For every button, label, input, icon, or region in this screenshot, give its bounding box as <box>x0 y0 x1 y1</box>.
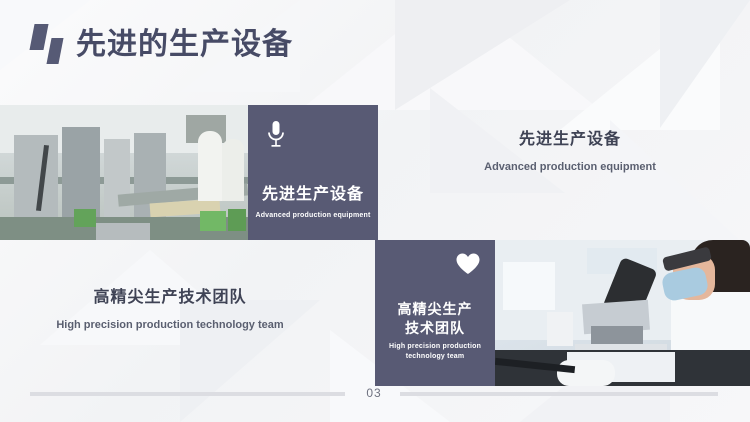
caption-high-precision-team: 高精尖生产技术团队 High precision production tech… <box>40 286 300 333</box>
panel-advanced-production-equipment[interactable]: 先进生产设备 Advanced production equipment <box>248 105 378 240</box>
lab-microscope-image <box>495 240 750 386</box>
panel-title-cn-line2: 技术团队 <box>405 320 465 336</box>
slide-canvas: 先进的生产设备 先进生产设备 Advanced pro <box>0 0 750 422</box>
panel-title-cn: 高精尖生产 技术团队 <box>375 300 495 338</box>
caption-advanced-production-equipment: 先进生产设备 Advanced production equipment <box>455 128 685 175</box>
factory-production-line-image <box>0 105 248 240</box>
caption-title-en: Advanced production equipment <box>455 160 685 175</box>
footer-rule-right <box>400 392 718 396</box>
page-title: 先进的生产设备 <box>76 24 293 66</box>
heart-icon <box>455 252 481 281</box>
microphone-icon <box>264 119 288 156</box>
footer-rule-left <box>30 392 345 396</box>
slide-header: 先进的生产设备 <box>0 0 750 90</box>
page-number: 03 <box>352 386 396 400</box>
dual-parallelogram-logo-icon <box>30 22 70 66</box>
panel-title-cn: 先进生产设备 <box>248 185 378 205</box>
caption-title-en: High precision production technology tea… <box>40 318 300 333</box>
caption-title-cn: 先进生产设备 <box>455 128 685 152</box>
caption-title-cn: 高精尖生产技术团队 <box>40 286 300 310</box>
panel-high-precision-team[interactable]: 高精尖生产 技术团队 High precision production tec… <box>375 240 495 386</box>
panel-title-cn-line1: 高精尖生产 <box>398 301 473 317</box>
panel-title-en: Advanced production equipment <box>254 211 372 221</box>
panel-title-en: High precision production technology tea… <box>381 342 489 362</box>
